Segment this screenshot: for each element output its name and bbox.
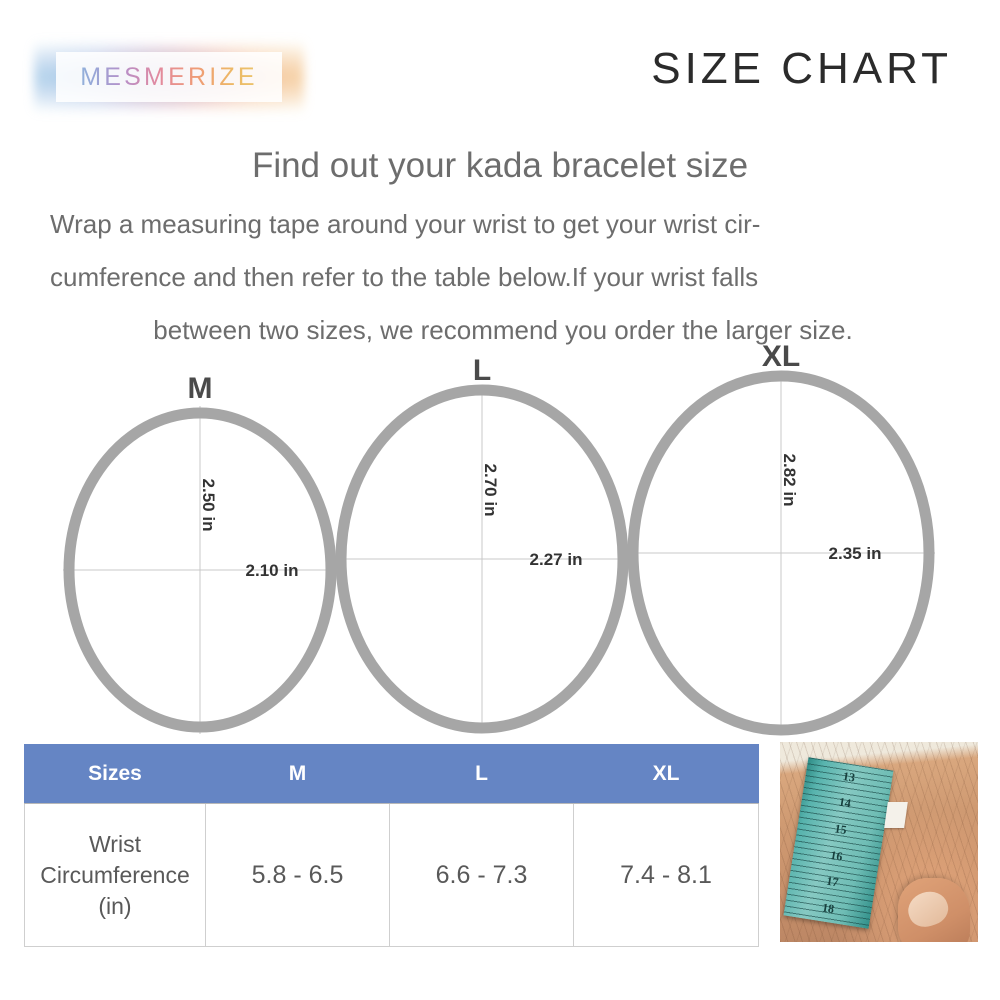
- oval-group-xl: XL 2.82 in 2.35 in: [630, 340, 935, 732]
- cell-value-l: 6.6 - 7.3: [390, 804, 574, 947]
- oval-group-m: M 2.50 in 2.10 in: [63, 372, 337, 734]
- oval-m-size-label: M: [188, 372, 213, 405]
- ovals-svg: M 2.50 in 2.10 in L 2.70 in 2.27 in XL: [0, 330, 1000, 740]
- table-row: Wrist Circumference (in) 5.8 - 6.5 6.6 -…: [25, 804, 759, 947]
- logo-text: MESMERIZE: [56, 52, 282, 102]
- oval-l-size-label: L: [473, 354, 491, 387]
- cell-value-xl: 7.4 - 8.1: [574, 804, 759, 947]
- tape-number: 15: [833, 821, 847, 838]
- brand-logo: MESMERIZE: [56, 52, 282, 102]
- tape-clip: [884, 802, 908, 828]
- tape-number: 16: [829, 848, 843, 865]
- table-header-xl: XL: [574, 745, 759, 804]
- table-header-l: L: [390, 745, 574, 804]
- tape-number: 18: [821, 900, 835, 917]
- size-table: Sizes M L XL Wrist Circumference (in) 5.…: [24, 744, 759, 947]
- oval-m-height-label: 2.50 in: [199, 479, 218, 532]
- size-chart-page: MESMERIZE SIZE CHART Find out your kada …: [0, 0, 1000, 1000]
- tape-number: 13: [842, 769, 856, 786]
- wrist-measurement-photo: 13 14 15 16 17 18: [780, 742, 978, 942]
- thumb: [898, 878, 970, 942]
- row-label-line-3: (in): [26, 891, 204, 922]
- oval-xl-size-label: XL: [762, 340, 800, 373]
- intro-line-2: cumference and then refer to the table b…: [50, 251, 956, 304]
- oval-xl-height-label: 2.82 in: [780, 454, 799, 507]
- tape-number: 17: [825, 874, 839, 891]
- thumbnail-nail: [904, 887, 953, 932]
- intro-line-1: Wrap a measuring tape around your wrist …: [50, 198, 956, 251]
- oval-group-l: L 2.70 in 2.27 in: [338, 354, 626, 730]
- row-label-line-1: Wrist: [26, 829, 204, 860]
- row-label-wrist-circumference: Wrist Circumference (in): [25, 804, 206, 947]
- headline: Find out your kada bracelet size: [0, 146, 1000, 186]
- oval-l-height-label: 2.70 in: [481, 464, 500, 517]
- table-header-row: Sizes M L XL: [25, 745, 759, 804]
- page-title: SIZE CHART: [651, 44, 952, 94]
- oval-l-width-label: 2.27 in: [530, 550, 583, 569]
- oval-xl-width-label: 2.35 in: [829, 544, 882, 563]
- table-header-sizes: Sizes: [25, 745, 206, 804]
- cell-value-m: 5.8 - 6.5: [206, 804, 390, 947]
- oval-diagrams: M 2.50 in 2.10 in L 2.70 in 2.27 in XL: [0, 330, 1000, 740]
- tape-number: 14: [838, 795, 852, 812]
- row-label-line-2: Circumference: [26, 860, 204, 891]
- table-header-m: M: [206, 745, 390, 804]
